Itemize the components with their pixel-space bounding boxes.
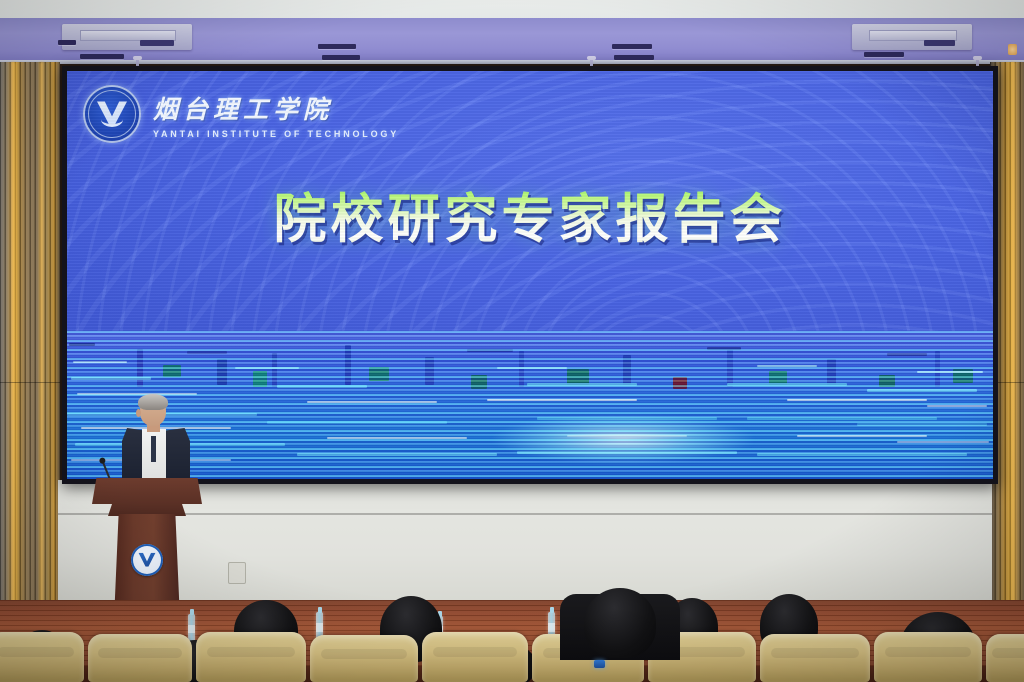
ceiling-upper-surface (0, 0, 1024, 20)
ceiling-support-rod-1 (136, 56, 139, 66)
ceiling-edge-trim (0, 60, 1024, 64)
ceiling-ac-vent-2 (852, 24, 972, 50)
wall-light-strip-right (1010, 62, 1017, 622)
ceiling-light-slot-2 (80, 54, 124, 59)
seat-row-group (0, 620, 1024, 682)
wall-seam-left (0, 382, 60, 383)
wall-outlet (228, 562, 246, 584)
auditorium-seat-5 (422, 632, 528, 682)
ceiling-ac-vent-1 (62, 24, 192, 50)
auditorium-seat-1 (0, 632, 84, 682)
ceiling-support-rod-3 (976, 56, 979, 66)
auditorium-seat-9 (874, 632, 982, 682)
auditorium-photo: 烟台理工学院 YANTAI INSTITUTE OF TECHNOLOGY 院校… (0, 0, 1024, 682)
auditorium-seat-2 (88, 634, 192, 682)
ac-vent-grill-secondary (924, 40, 955, 47)
ac-vent-grill (869, 30, 957, 41)
lectern-neck (108, 502, 186, 516)
audience-phone-screen (594, 660, 605, 668)
presenter-ear (136, 409, 141, 417)
auditorium-seat-3 (196, 632, 306, 682)
led-screen: 烟台理工学院 YANTAI INSTITUTE OF TECHNOLOGY 院校… (67, 71, 993, 479)
wall-panel-left (0, 62, 60, 622)
ceiling-light-slot-1 (58, 40, 76, 45)
auditorium-seat-8 (760, 634, 870, 682)
lectern-crest-icon (131, 544, 163, 576)
led-screen-bezel: 烟台理工学院 YANTAI INSTITUTE OF TECHNOLOGY 院校… (62, 66, 998, 484)
auditorium-seat-4 (310, 635, 418, 682)
ac-vent-grill-secondary (140, 40, 174, 47)
audience-head-front-center (584, 588, 656, 658)
presenter-tie (151, 436, 156, 462)
auditorium-seat-10 (986, 634, 1024, 682)
lectern-crest-mark-icon (139, 553, 156, 567)
ac-vent-grill (80, 30, 176, 41)
ceiling-light-slot-7 (864, 52, 904, 57)
ceiling-light-slot-4 (322, 55, 360, 60)
presenter-figure (122, 396, 192, 482)
ceiling-light-slot-5 (612, 44, 652, 49)
wall-slat-texture (0, 62, 60, 622)
wall-light-strip-left-a (10, 62, 17, 622)
presenter-hair (138, 394, 168, 410)
wall-light-strip-left-b (38, 62, 45, 622)
screen-scanline-overlay (67, 71, 993, 479)
ceiling-light-slot-3 (318, 44, 356, 49)
ceiling-warm-light (1008, 44, 1017, 55)
ceiling-light-slot-6 (614, 55, 654, 60)
ceiling-support-rod-2 (590, 56, 593, 66)
lectern-top (92, 478, 202, 504)
